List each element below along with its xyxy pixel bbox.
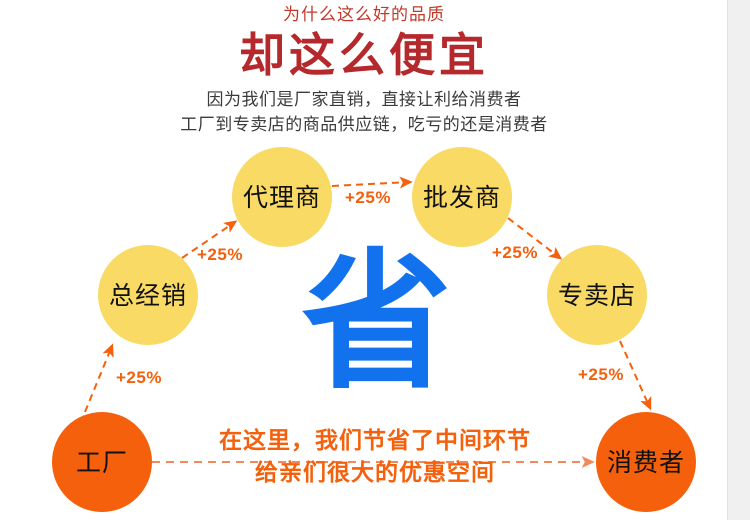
markup-label-5: +25% — [578, 365, 624, 385]
node-label: 专卖店 — [558, 283, 636, 308]
slogan-line-1: 在这里，我们节省了中间环节 — [170, 425, 580, 457]
markup-label-3: +25% — [345, 188, 391, 208]
markup-label-2: +25% — [197, 245, 243, 265]
promo-infographic: 为什么这么好的品质 却这么便宜 因为我们是厂家直销，直接让利给消费者 工厂到专卖… — [0, 0, 750, 520]
arrow-zhuanmaidian-to-xiaofeizhe — [620, 341, 650, 408]
node-pifashang[interactable]: 批发商 — [412, 147, 512, 247]
node-label: 消费者 — [607, 450, 685, 475]
node-zongjingxiao[interactable]: 总经销 — [98, 245, 198, 345]
slogan-block: 在这里，我们节省了中间环节 给亲们很大的优惠空间 — [170, 425, 580, 489]
center-save-character: 省 — [294, 243, 459, 403]
node-xiaofeizhe[interactable]: 消费者 — [596, 412, 696, 512]
arrow-dailishang-to-pifashang — [332, 182, 410, 186]
node-label: 工厂 — [76, 450, 128, 475]
node-label: 总经销 — [109, 283, 187, 308]
supply-chain-diagram: 代理商 批发商 总经销 专卖店 工厂 消费者 +25% +25% +25% +2… — [0, 0, 750, 520]
page-edge-strip — [727, 0, 750, 520]
node-dailishang[interactable]: 代理商 — [232, 147, 332, 247]
arrow-gongchang-to-zongjingxiao — [85, 346, 112, 412]
node-gongchang[interactable]: 工厂 — [52, 412, 152, 512]
node-label: 代理商 — [243, 185, 321, 210]
node-label: 批发商 — [423, 185, 501, 210]
markup-label-4: +25% — [492, 243, 538, 263]
markup-label-1: +25% — [116, 368, 162, 388]
node-zhuanmaidian[interactable]: 专卖店 — [547, 245, 647, 345]
slogan-line-2: 给亲们很大的优惠空间 — [170, 457, 580, 489]
